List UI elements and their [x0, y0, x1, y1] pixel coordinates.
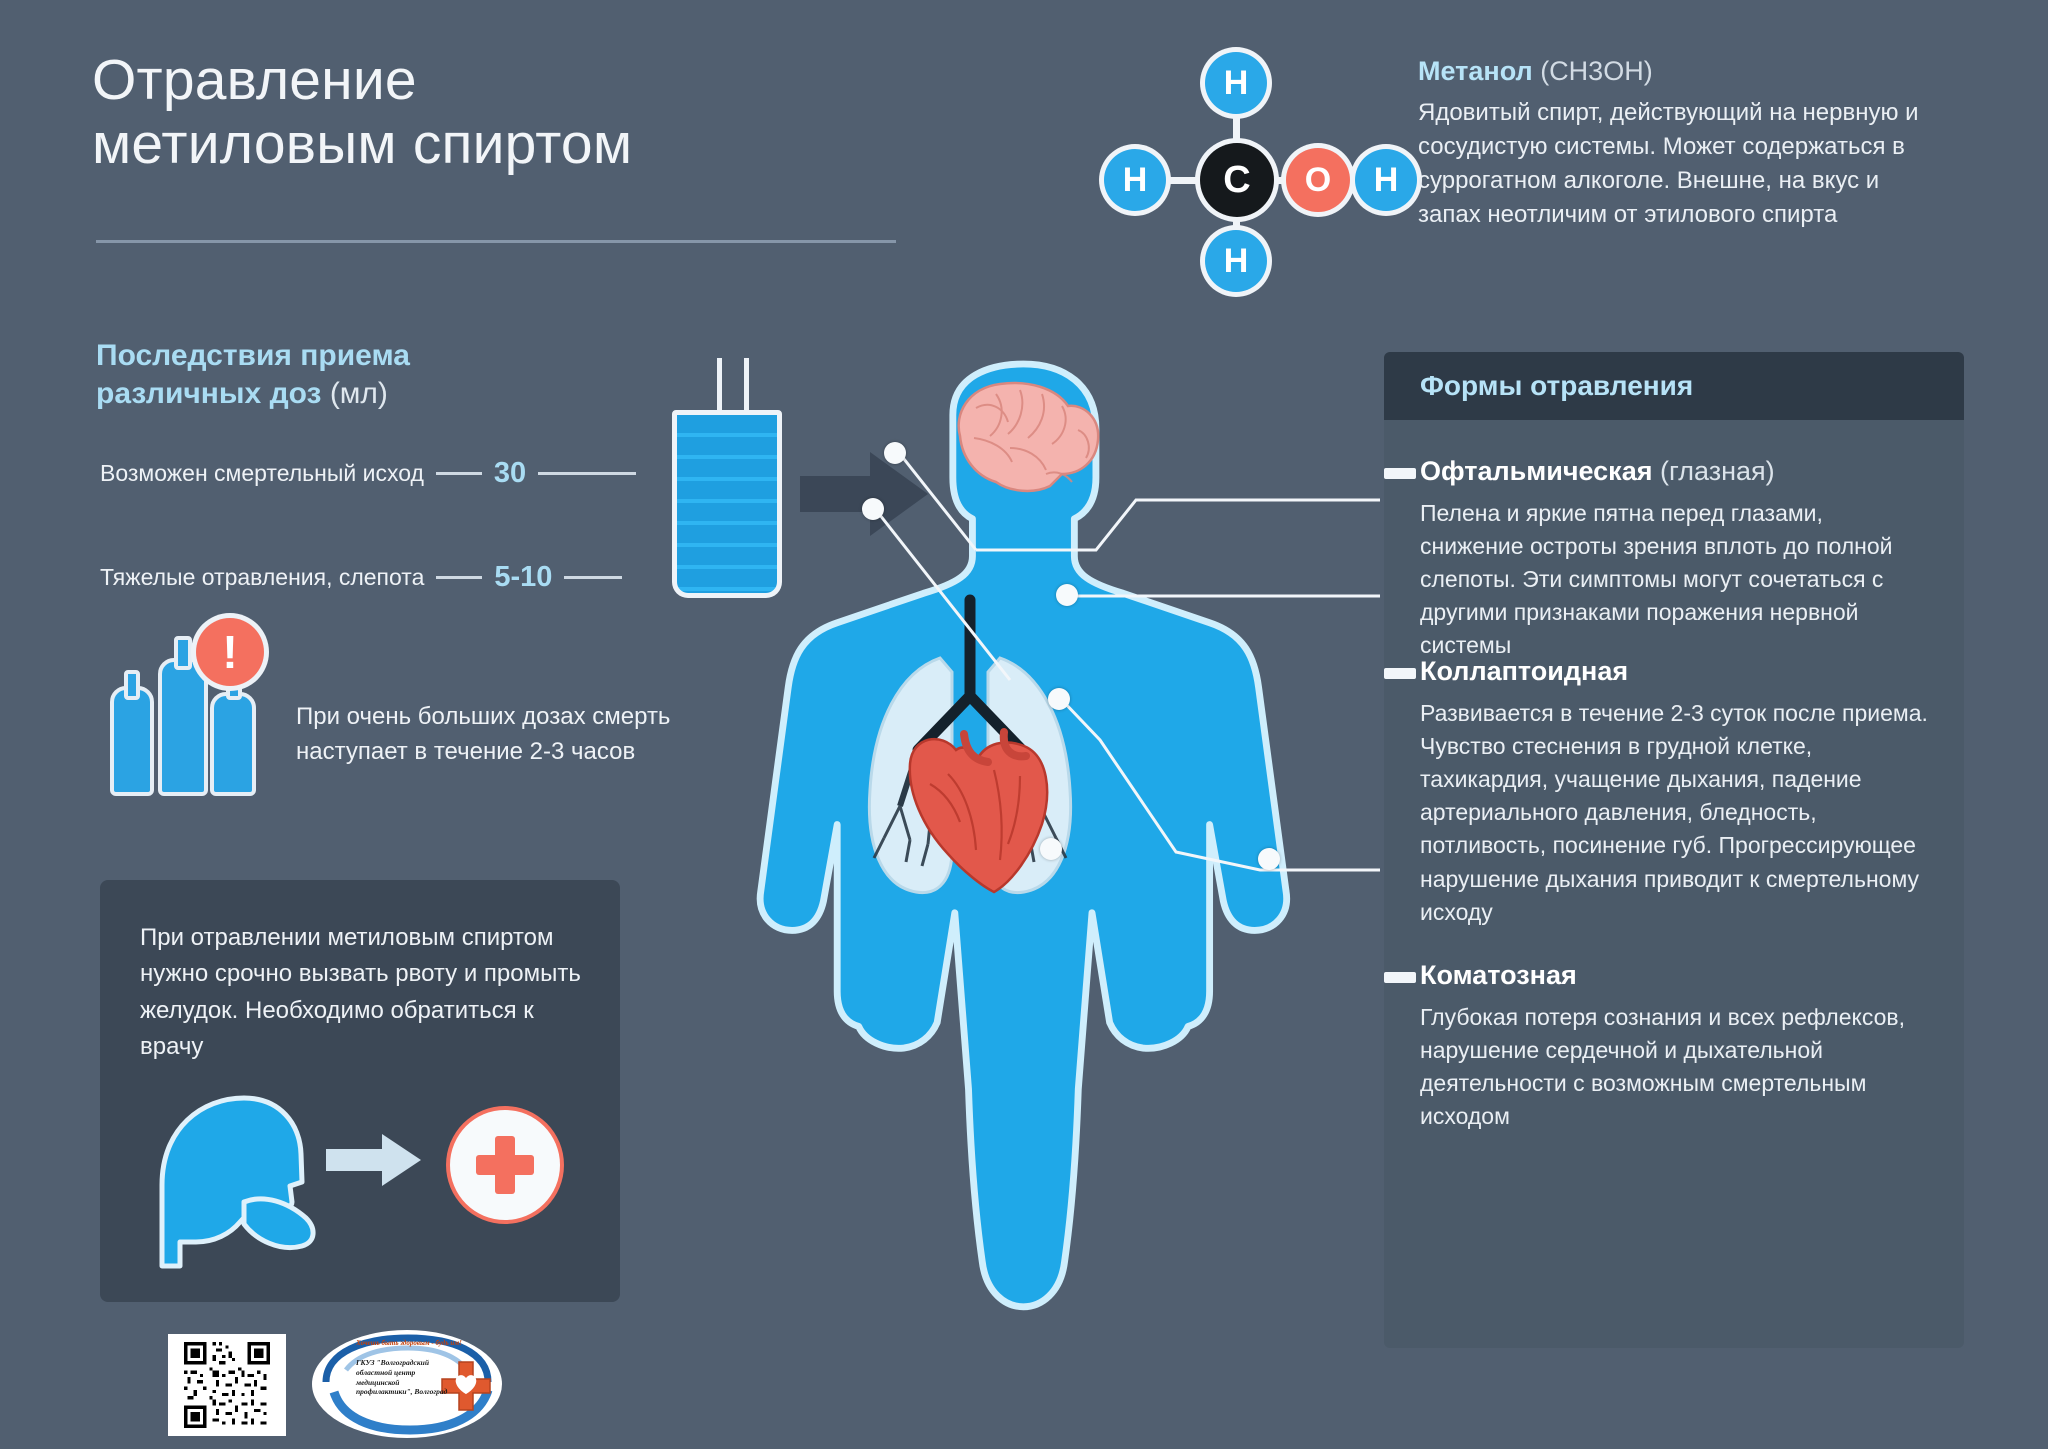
dose-label: Возможен смертельный исход [100, 460, 424, 487]
page-title-line-2: метиловым спиртом [92, 112, 912, 176]
dose-row: Тяжелые отравления, слепота 5-10 [100, 560, 622, 594]
page-title-line-1: Отравление [92, 48, 912, 112]
panel-header-label: Формы отравления [1420, 370, 1693, 402]
dose-label: Тяжелые отравления, слепота [100, 564, 424, 591]
form-subtitle-text: (глазная) [1660, 456, 1775, 486]
poisoning-forms-panel: Формы отравления Офтальмическая (глазная… [1384, 352, 1964, 1348]
atom-hydrogen-bottom: H [1205, 230, 1267, 292]
form-body: Пелена и яркие пятна перед глазами, сниж… [1420, 497, 1928, 663]
connector-lines [860, 400, 1420, 1300]
form-title: Коллаптоидная [1420, 656, 1928, 687]
bottle-small-left-neck [124, 670, 140, 700]
bottle-small-right [210, 692, 256, 796]
methanol-heading: Метанол (CH3OH) [1418, 56, 1938, 87]
dose-row: Возможен смертельный исход 30 [100, 456, 636, 490]
body-point-heart [1048, 688, 1070, 710]
poisoning-form-comatose: Коматозная Глубокая потеря сознания и вс… [1420, 960, 1928, 1133]
body-point-lungs [1056, 584, 1078, 606]
form-title: Офтальмическая (глазная) [1420, 456, 1928, 487]
poisoning-form-ophthalmic: Офтальмическая (глазная) Пелена и яркие … [1420, 456, 1928, 663]
logo-organization-text: ГКУЗ "Волгоградский областной центр меди… [356, 1358, 456, 1397]
bottles-warning-text: При очень больших дозах смерть наступает… [296, 700, 696, 770]
doses-heading: Последствия приема различных доз (мл) [96, 337, 576, 412]
first-aid-icons [140, 1090, 560, 1280]
atom-hydrogen-top: H [1205, 52, 1267, 114]
poisoning-form-collaptoid: Коллаптоидная Развивается в течение 2-3 … [1420, 656, 1928, 929]
form-title-text: Коматозная [1420, 960, 1577, 990]
organization-logo: Хочешь быть здоровым - будь им! ГКУЗ "Во… [312, 1330, 502, 1438]
form-body: Глубокая потеря сознания и всех рефлексо… [1420, 1001, 1928, 1133]
atom-hydrogen-left: H [1104, 149, 1166, 211]
dose-value: 30 [494, 457, 526, 490]
alert-exclamation-icon: ! [196, 618, 264, 686]
methanol-name: Метанол [1418, 56, 1533, 86]
logo-oval-background: Хочешь быть здоровым - будь им! ГКУЗ "Во… [312, 1330, 502, 1438]
arrow-right-small-icon [326, 1132, 422, 1188]
logo-tagline: Хочешь быть здоровым - будь им! [334, 1339, 484, 1347]
doses-heading-line-1: Последствия приема [96, 337, 576, 375]
dose-dash [436, 472, 482, 475]
body-point-brain [884, 442, 906, 464]
bottle-tall-center [158, 658, 208, 796]
title-divider [96, 240, 896, 243]
form-title-text: Коллаптоидная [1420, 656, 1628, 686]
form-marker-icon [1384, 468, 1416, 479]
first-aid-text: При отравлении метиловым спиртом нужно с… [140, 920, 590, 1066]
methanol-molecule-diagram: H H C O H H [1090, 52, 1390, 262]
doses-heading-line-2-text: различных доз [96, 377, 321, 410]
form-marker-icon [1384, 972, 1416, 983]
qr-code[interactable] [168, 1334, 286, 1436]
atom-hydrogen-right: H [1355, 149, 1417, 211]
dose-tail [564, 576, 622, 579]
doses-heading-line-2: различных доз (мл) [96, 375, 576, 413]
atom-carbon: C [1200, 143, 1274, 217]
form-marker-icon [1384, 668, 1416, 679]
atom-oxygen: O [1286, 148, 1350, 212]
body-point-hand [1258, 848, 1280, 870]
doses-unit: (мл) [330, 377, 388, 410]
form-body: Развивается в течение 2-3 суток после пр… [1420, 697, 1928, 929]
form-title-text: Офтальмическая [1420, 456, 1652, 486]
methanol-info: Метанол (CH3OH) Ядовитый спирт, действую… [1418, 56, 1938, 232]
body-point-eye [862, 498, 884, 520]
page-title: Отравление метиловым спиртом [92, 48, 912, 177]
medical-cross-icon [450, 1110, 560, 1220]
methanol-description: Ядовитый спирт, действующий на нервную и… [1418, 96, 1938, 232]
dose-tail [538, 472, 636, 475]
form-title: Коматозная [1420, 960, 1928, 991]
panel-header: Формы отравления [1384, 352, 1964, 420]
dose-dash [436, 576, 482, 579]
methanol-formula: (CH3OH) [1540, 56, 1653, 86]
dose-value: 5-10 [494, 561, 552, 594]
bottle-small-left [110, 686, 154, 796]
qr-code-image [173, 1339, 281, 1431]
bottle-tall-center-neck [174, 636, 192, 670]
body-point-arm-upper [1040, 838, 1062, 860]
